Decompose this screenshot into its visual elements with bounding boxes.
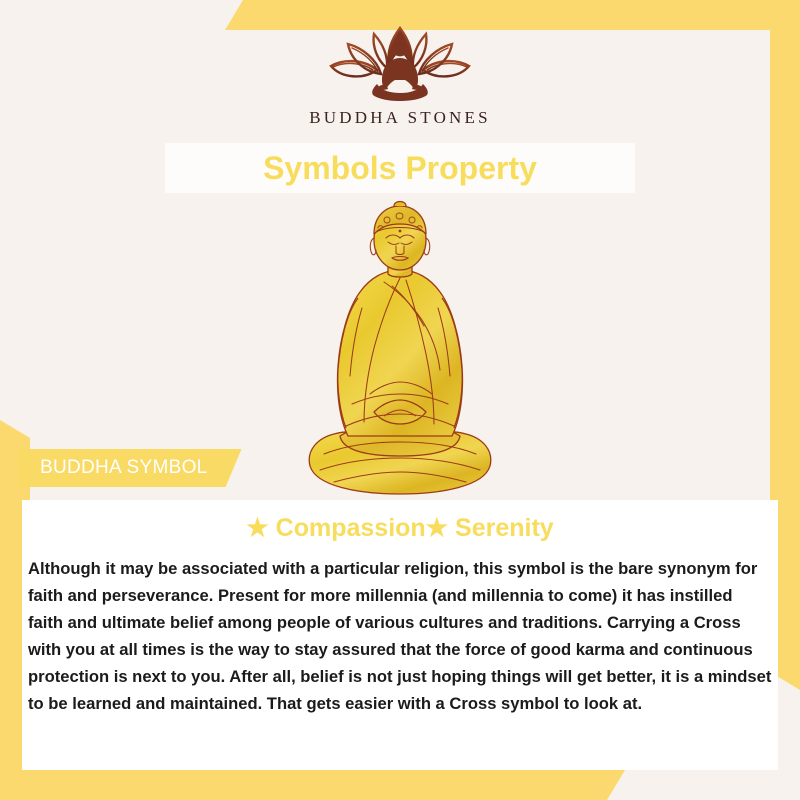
symbol-tag: BUDDHA SYMBOL xyxy=(18,449,242,487)
virtues-heading: ★ Compassion★ Serenity xyxy=(22,500,778,543)
brand-name: BUDDHA STONES xyxy=(309,108,491,128)
description-text: Although it may be associated with a par… xyxy=(22,543,778,717)
content-panel: ★ Compassion★ Serenity Although it may b… xyxy=(22,500,778,770)
decorative-band-bottom xyxy=(0,770,625,800)
seated-buddha-statue-icon xyxy=(300,198,500,498)
symbol-tag-label: BUDDHA SYMBOL xyxy=(40,457,208,479)
poster-page: BUDDHA STONES Symbols Property xyxy=(0,0,800,800)
page-title: Symbols Property xyxy=(263,150,537,187)
lotus-meditation-icon xyxy=(315,22,485,104)
brand-logo: BUDDHA STONES xyxy=(0,22,800,128)
title-banner: Symbols Property xyxy=(165,143,635,193)
